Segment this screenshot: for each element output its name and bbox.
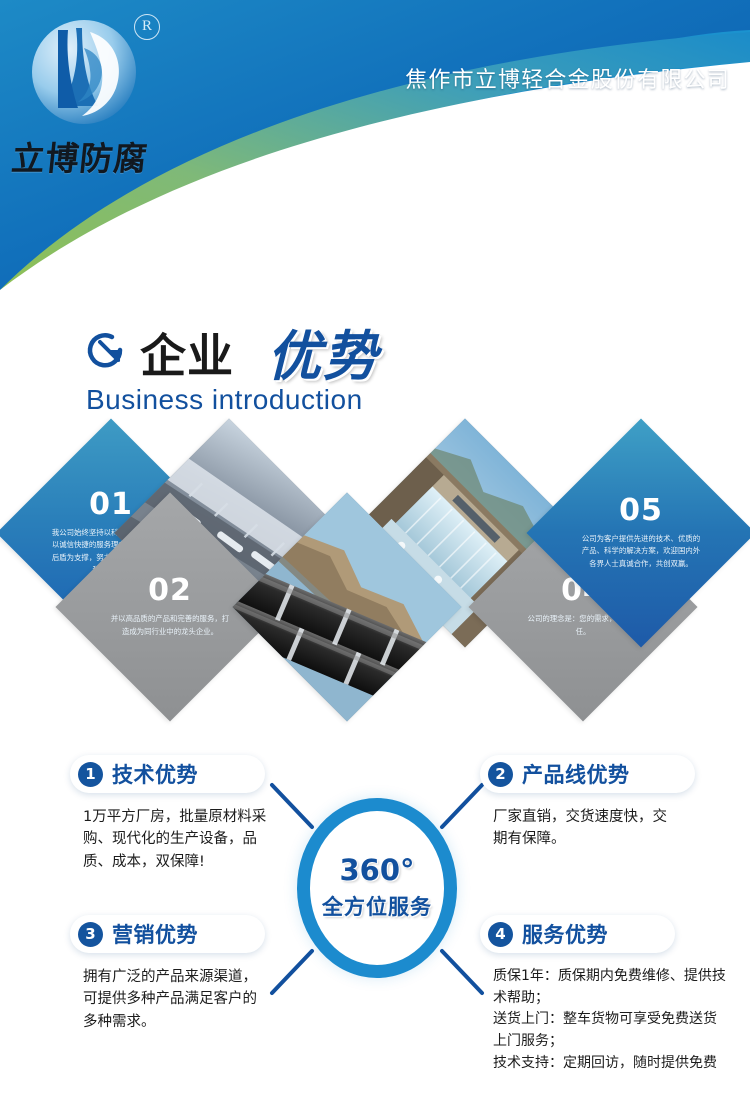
diamond-05-content: 05 公司为客户提供先进的技术、优质的产品、科学的解决方案，欢迎国内外各界人士真…	[560, 452, 722, 614]
diamond-number: 05	[619, 496, 663, 526]
diamond-text: 公司为客户提供先进的技术、优质的产品、科学的解决方案，欢迎国内外各界人士真诚合作…	[579, 533, 703, 570]
advantage-line: 多种需求。	[83, 1011, 342, 1033]
advantage-pill-2[interactable]: 2 产品线优势	[480, 755, 695, 793]
sail-wave-logo-icon	[24, 14, 144, 134]
advantage-line: 质、成本，双保障!	[83, 851, 342, 873]
advantage-body-4: 质保1年：质保期内免费维修、提供技 术帮助； 送货上门：整车货物可享受免费送货 …	[480, 966, 750, 1074]
section-title-en: Business introduction	[86, 384, 363, 416]
diamond-number: 02	[148, 576, 192, 606]
section-title-block: 企业 优势 Business introduction	[82, 318, 502, 418]
advantage-line: 厂家直销，交货速度快，交	[493, 806, 750, 828]
diamond-02-content: 02 并以高品质的产品和完善的服务，打造成为同行业中的龙头企业。	[89, 526, 251, 688]
advantage-line: 上门服务；	[493, 1031, 750, 1053]
advantage-pill-4[interactable]: 4 服务优势	[480, 915, 675, 953]
advantage-line: 购、现代化的生产设备，品	[83, 828, 342, 850]
advantage-card-1[interactable]: 1 技术优势 1万平方厂房，批量原材料采 购、现代化的生产设备，品 质、成本，双…	[70, 755, 342, 873]
advantage-card-2[interactable]: 2 产品线优势 厂家直销，交货速度快，交 期有保障。	[480, 755, 750, 851]
advantage-body-3: 拥有广泛的产品来源渠道， 可提供多种产品满足客户的 多种需求。	[70, 966, 342, 1033]
advantage-title: 技术优势	[112, 759, 198, 789]
advantage-title: 产品线优势	[522, 759, 630, 789]
diamond-gallery: 01 我公司始终坚持以科技为立足之本，以诚信快捷的服务理念和强大的科研后盾为支撑…	[0, 430, 750, 715]
advantage-body-1: 1万平方厂房，批量原材料采 购、现代化的生产设备，品 质、成本，双保障!	[70, 806, 342, 873]
registered-trademark-icon: R	[134, 14, 160, 40]
advantage-badge: 4	[488, 922, 513, 947]
advantage-card-3[interactable]: 3 营销优势 拥有广泛的产品来源渠道， 可提供多种产品满足客户的 多种需求。	[70, 915, 342, 1033]
page-header: R 立博防腐 焦作市立博轻合金股份有限公司	[0, 0, 750, 290]
advantage-line: 术帮助；	[493, 988, 750, 1010]
arrow-circle-icon	[82, 326, 130, 374]
advantage-line: 技术支持：定期回访，随时提供免费	[493, 1053, 750, 1075]
logo[interactable]: R 立博防腐	[8, 8, 178, 193]
advantage-badge: 3	[78, 922, 103, 947]
service-advantages-section: 360° 全方位服务 1 技术优势 1万平方厂房，批量原材料采 购、现代化的生产…	[0, 735, 750, 1105]
advantage-line: 送货上门：整车货物可享受免费送货	[493, 1009, 750, 1031]
advantage-card-4[interactable]: 4 服务优势 质保1年：质保期内免费维修、提供技 术帮助； 送货上门：整车货物可…	[480, 915, 750, 1074]
advantage-title: 营销优势	[112, 919, 198, 949]
advantage-pill-3[interactable]: 3 营销优势	[70, 915, 265, 953]
advantage-line: 可提供多种产品满足客户的	[83, 988, 342, 1010]
advantage-badge: 2	[488, 762, 513, 787]
page-root: R 立博防腐 焦作市立博轻合金股份有限公司 企业 优势 Business int…	[0, 0, 750, 1118]
diamond-number: 01	[89, 490, 133, 520]
section-title-cn-accent: 优势	[267, 312, 379, 391]
advantage-body-2: 厂家直销，交货速度快，交 期有保障。	[480, 806, 750, 851]
advantage-line: 期有保障。	[493, 828, 750, 850]
section-title-cn-primary: 企业	[140, 320, 234, 386]
advantage-line: 拥有广泛的产品来源渠道，	[83, 966, 342, 988]
advantage-badge: 1	[78, 762, 103, 787]
logo-brand-text: 立博防腐	[9, 132, 174, 180]
advantage-line: 1万平方厂房，批量原材料采	[83, 806, 342, 828]
diamond-text: 并以高品质的产品和完善的服务，打造成为同行业中的龙头企业。	[108, 613, 232, 637]
advantage-title: 服务优势	[522, 919, 608, 949]
advantage-line: 质保1年：质保期内免费维修、提供技	[493, 966, 750, 988]
company-name: 焦作市立博轻合金股份有限公司	[405, 62, 730, 94]
section-title-row: 企业 优势	[82, 318, 502, 380]
advantage-pill-1[interactable]: 1 技术优势	[70, 755, 265, 793]
